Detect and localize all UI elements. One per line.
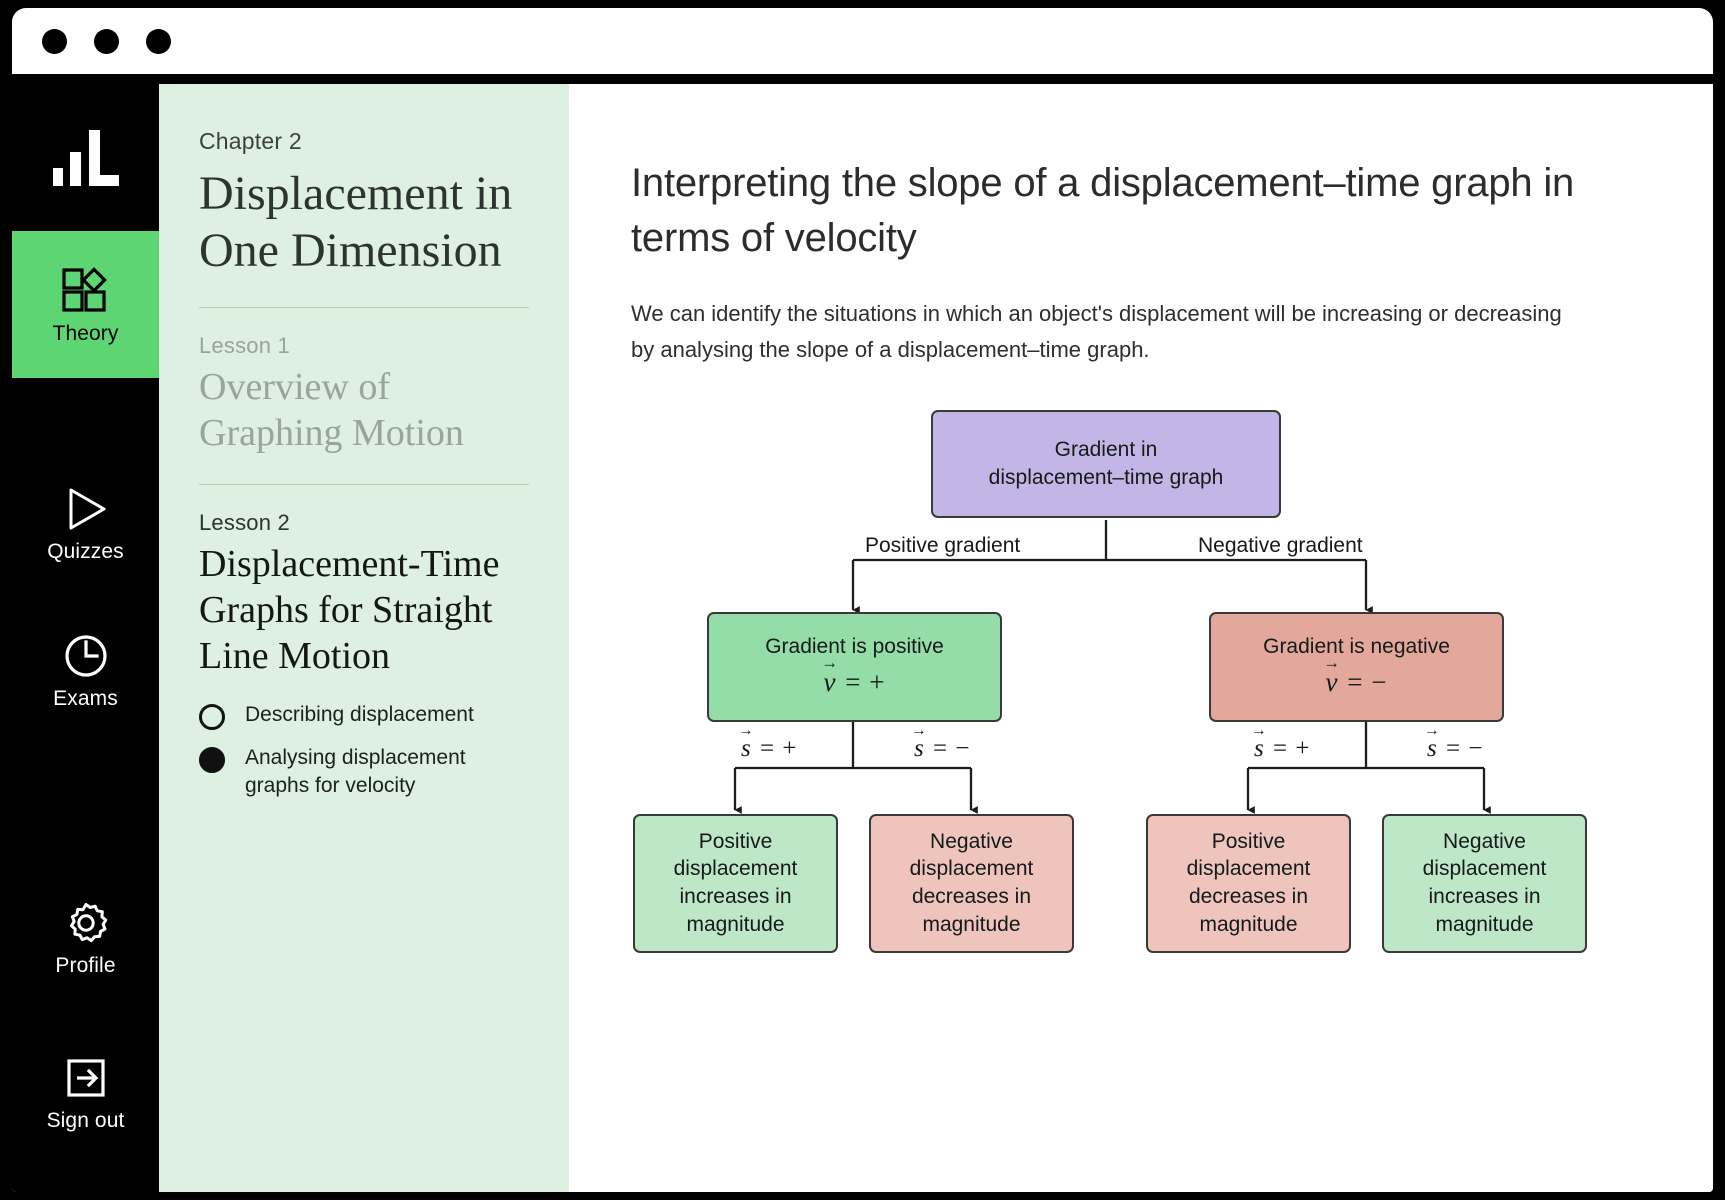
rail-flex-spacer (12, 744, 159, 864)
sidebar-item-quizzes-label: Quizzes (47, 541, 124, 562)
window-dot-1[interactable] (42, 29, 67, 54)
panel-divider-2 (199, 484, 529, 485)
topic-item-1-label: Describing displacement (245, 701, 474, 728)
window-dot-2[interactable] (94, 29, 119, 54)
lesson-item-2[interactable]: Lesson 2 Displacement-Time Graphs for St… (199, 510, 529, 679)
sign-value: + (1295, 735, 1310, 762)
equals-sign: = (1347, 667, 1363, 697)
topic-item-describing-displacement[interactable]: Describing displacement (199, 701, 529, 730)
node-root-line-2: displacement–time graph (989, 464, 1224, 492)
sidebar-item-quizzes[interactable]: Quizzes (12, 450, 159, 597)
node-leaf-negative-increases[interactable]: Negative displacement increases in magni… (1382, 814, 1587, 953)
window-dot-3[interactable] (146, 29, 171, 54)
node-leaf-2-text: Negative displacement decreases in magni… (881, 828, 1062, 939)
node-gradient-positive-label: Gradient is positive (765, 633, 944, 661)
node-leaf-positive-increases[interactable]: Positive displacement increases in magni… (633, 814, 838, 953)
lesson-1-title: Overview of Graphing Motion (199, 365, 529, 456)
sign-value: − (1371, 667, 1387, 697)
lesson-1-eyebrow: Lesson 1 (199, 333, 529, 359)
edge-label-s-negative-left: s = − (914, 735, 970, 763)
gear-icon (62, 899, 110, 947)
clock-icon (62, 632, 110, 680)
node-gradient-negative-equation: v = − (1326, 665, 1388, 701)
equals-sign: = (933, 735, 948, 762)
edge-label-positive-gradient: Positive gradient (865, 534, 1020, 558)
node-leaf-1-text: Positive displacement increases in magni… (645, 828, 826, 939)
node-gradient-positive[interactable]: Gradient is positive v = + (707, 612, 1002, 722)
sign-out-icon (62, 1054, 110, 1102)
bar-chart-logo-icon (53, 130, 119, 186)
vector-s-symbol: s (1254, 735, 1266, 762)
node-gradient-negative[interactable]: Gradient is negative v = − (1209, 612, 1504, 722)
sign-value: − (1468, 735, 1483, 762)
sidebar-item-profile[interactable]: Profile (12, 864, 159, 1011)
main-content: Interpreting the slope of a displacement… (569, 84, 1713, 1192)
equals-sign: = (845, 667, 861, 697)
chapter-eyebrow: Chapter 2 (199, 128, 529, 155)
sidebar-item-exams-label: Exams (53, 688, 118, 709)
node-root-line-1: Gradient in (1055, 436, 1158, 464)
window-titlebar (12, 8, 1713, 74)
lesson-2-eyebrow: Lesson 2 (199, 510, 529, 536)
node-leaf-4-text: Negative displacement increases in magni… (1394, 828, 1575, 939)
node-leaf-3-text: Positive displacement decreases in magni… (1158, 828, 1339, 939)
node-leaf-negative-decreases[interactable]: Negative displacement decreases in magni… (869, 814, 1074, 953)
vector-v-symbol: v (824, 667, 838, 697)
vector-s-symbol: s (1427, 735, 1439, 762)
topic-item-2-label: Analysing displacement graphs for veloci… (245, 744, 529, 799)
equals-sign: = (1273, 735, 1288, 762)
vector-s-symbol: s (914, 735, 926, 762)
theory-blocks-icon (61, 265, 111, 315)
edge-label-s-negative-right: s = − (1427, 735, 1483, 763)
page-title: Interpreting the slope of a displacement… (631, 156, 1641, 266)
lesson-item-1[interactable]: Lesson 1 Overview of Graphing Motion (199, 333, 529, 456)
edge-label-s-positive-right: s = + (1254, 735, 1310, 763)
gradient-flowchart: Gradient in displacement–time graph Posi… (631, 410, 1691, 980)
intro-paragraph: We can identify the situations in which … (631, 296, 1571, 367)
node-gradient-positive-equation: v = + (824, 665, 886, 701)
topic-list: Describing displacement Analysing displa… (199, 701, 529, 799)
equals-sign: = (760, 735, 775, 762)
sign-value: + (782, 735, 797, 762)
panel-divider-1 (199, 307, 529, 308)
sidebar-item-profile-label: Profile (55, 955, 115, 976)
edge-label-negative-gradient: Negative gradient (1198, 534, 1363, 558)
lesson-2-title: Displacement-Time Graphs for Straight Li… (199, 542, 529, 679)
node-root[interactable]: Gradient in displacement–time graph (931, 410, 1281, 518)
play-triangle-icon (62, 485, 110, 533)
lesson-panel: Chapter 2 Displacement in One Dimension … (159, 84, 569, 1192)
app-logo[interactable] (12, 84, 159, 231)
sidebar-item-signout-label: Sign out (47, 1110, 125, 1131)
topic-item-analysing-displacement-graphs[interactable]: Analysing displacement graphs for veloci… (199, 744, 529, 799)
edge-label-s-positive-left: s = + (741, 735, 797, 763)
rail-gap (12, 378, 159, 450)
sign-value: + (869, 667, 885, 697)
node-gradient-negative-label: Gradient is negative (1263, 633, 1450, 661)
sidebar-item-theory-label: Theory (53, 323, 119, 344)
equals-sign: = (1446, 735, 1461, 762)
radio-unselected-icon[interactable] (199, 704, 225, 730)
vector-s-symbol: s (741, 735, 753, 762)
node-leaf-positive-decreases[interactable]: Positive displacement decreases in magni… (1146, 814, 1351, 953)
sign-value: − (955, 735, 970, 762)
sidebar-item-exams[interactable]: Exams (12, 597, 159, 744)
radio-selected-icon[interactable] (199, 747, 225, 773)
vector-v-symbol: v (1326, 667, 1340, 697)
sidebar-rail: Theory Quizzes Exams (12, 84, 159, 1192)
sidebar-item-signout[interactable]: Sign out (12, 1019, 159, 1166)
chapter-title: Displacement in One Dimension (199, 166, 529, 279)
sidebar-item-theory[interactable]: Theory (12, 231, 159, 378)
window-body: Theory Quizzes Exams (12, 84, 1713, 1192)
app-root: Theory Quizzes Exams (0, 0, 1725, 1200)
